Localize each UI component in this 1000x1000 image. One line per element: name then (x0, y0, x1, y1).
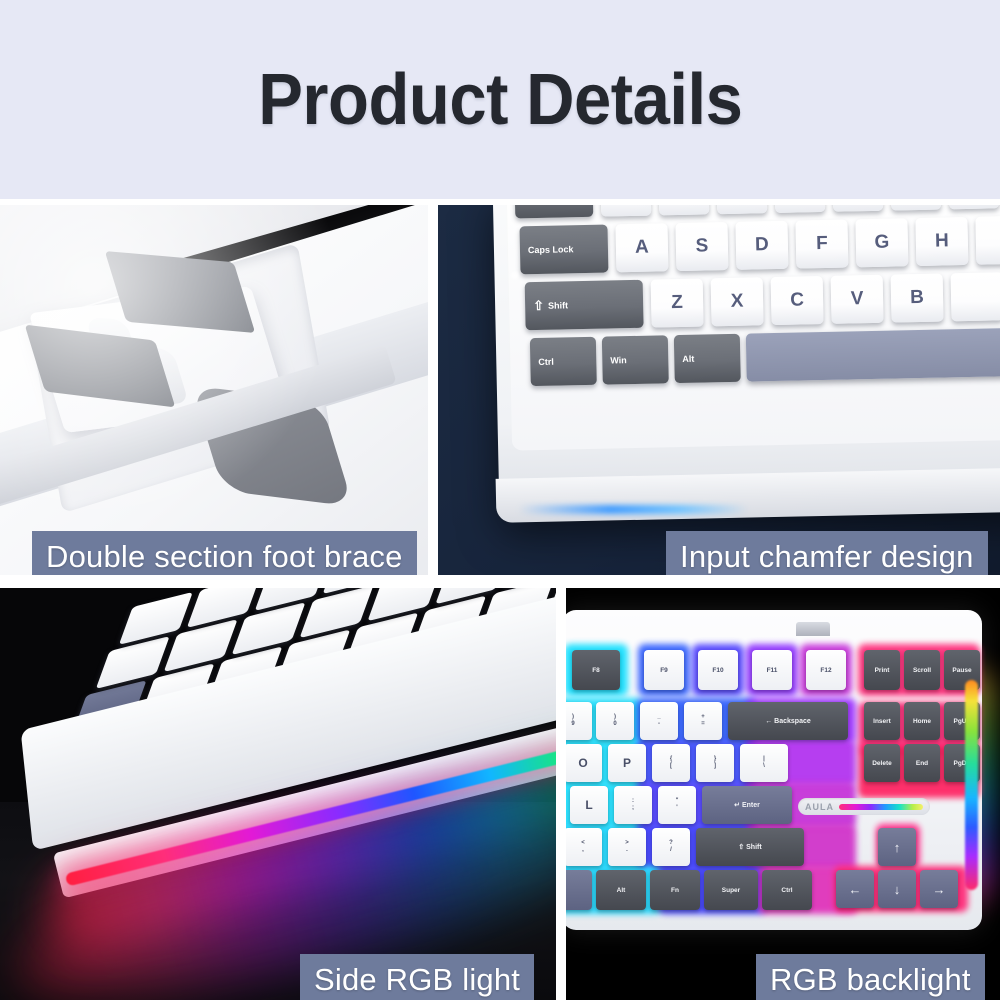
key-l: L (570, 786, 608, 824)
panel-foot-brace: Double section foot brace (0, 205, 428, 575)
rgb-keyboard-body: F8 F9 F10 F11 F12 Print Scroll Pause ) 9… (566, 610, 982, 930)
key-f10: F10 (698, 650, 738, 690)
key-fn: Fn (650, 870, 700, 910)
chamfer-specular-dot (510, 271, 519, 280)
caption-rgb-backlight: RGB backlight (756, 954, 985, 1000)
key-backspace: ← Backspace (728, 702, 848, 740)
key-tab: ⇥ (514, 205, 593, 218)
key-s: S (675, 222, 728, 271)
key-backslash-glyph: \ (763, 763, 765, 770)
key-space-right (566, 870, 592, 910)
key-super: Super (704, 870, 758, 910)
page-header: Product Details (0, 0, 1000, 199)
key-ctrl: Ctrl (530, 337, 597, 386)
key-9: ) 9 (566, 702, 592, 740)
key-comma-glyph: , (582, 847, 584, 854)
key-minus-bottom: - (658, 721, 660, 728)
chamfer-keyboard-body: ⇥ Caps Lock A S D F G H (493, 205, 1000, 515)
key-rbracket: ] (714, 763, 716, 770)
key-delete: Delete (864, 744, 900, 782)
key-f11: F11 (752, 650, 792, 690)
key-rbrace: } (714, 756, 716, 763)
key-end: End (904, 744, 940, 782)
key-print: Print (864, 650, 900, 690)
caption-input-chamfer: Input chamfer design (666, 531, 988, 575)
brand-label: AULA (805, 802, 834, 812)
key-backslash: | \ (740, 744, 788, 782)
key-period-glyph: . (626, 847, 628, 854)
key-caps-lock: Caps Lock (519, 225, 608, 275)
key-home: Home (904, 702, 940, 740)
key-insert: Insert (864, 702, 900, 740)
key-lt: < (581, 840, 585, 847)
key-ctrl-right: Ctrl (762, 870, 812, 910)
key-f9: F9 (644, 650, 684, 690)
key-v: V (831, 275, 884, 324)
key-alt: Alt (674, 334, 741, 383)
brand-rgb-bar (839, 804, 923, 810)
key-right-bracket: } ] (696, 744, 734, 782)
key-equals: + = (684, 702, 722, 740)
panel-side-rgb: Side RGB light (0, 588, 556, 1000)
foot-brace-rubber-pad-top (105, 251, 256, 333)
key-win: Win (602, 335, 669, 384)
key-0: ) 0 (596, 702, 634, 740)
key-arrow-left: ← (836, 870, 874, 908)
key-colon: : (632, 798, 634, 805)
key-minus-top: _ (657, 714, 660, 721)
key-alt-right: Alt (596, 870, 646, 910)
key-shift-right: ⇧ Shift (696, 828, 804, 866)
key-arrow-up: ↑ (878, 828, 916, 866)
key-slash-glyph: / (670, 847, 672, 854)
key-q-area (600, 205, 651, 217)
caption-side-rgb: Side RGB light (300, 954, 534, 1000)
key-d: D (735, 221, 788, 270)
key-apostrophe-glyph: ' (676, 805, 677, 812)
key-o: O (566, 744, 602, 782)
key-h: H (915, 217, 968, 266)
key-lbracket: [ (670, 763, 672, 770)
panel-rgb-backlight: F8 F9 F10 F11 F12 Print Scroll Pause ) 9… (566, 588, 1000, 1000)
key-plus-top: + (701, 714, 705, 721)
key-gt: > (625, 840, 629, 847)
key-scroll: Scroll (904, 650, 940, 690)
key-pipe: | (763, 756, 765, 763)
product-details-page: Product Details Double section foot brac… (0, 0, 1000, 1000)
key-x: X (711, 277, 764, 326)
key-f8: F8 (572, 650, 620, 690)
key-g: G (855, 218, 908, 267)
key-p: P (608, 744, 646, 782)
chamfer-blue-underglow (518, 505, 748, 514)
key-0-top: ) (614, 714, 616, 721)
key-shift-left: ⇧ Shift (525, 280, 644, 330)
key-c: C (771, 276, 824, 325)
key-quote: " (676, 798, 679, 805)
key-semicolon: : ; (614, 786, 652, 824)
key-enter: ↵ Enter (702, 786, 792, 824)
key-lbrace: { (670, 756, 672, 763)
key-y-area (890, 205, 941, 211)
key-period: > . (608, 828, 646, 866)
brand-badge: AULA (798, 798, 930, 815)
key-equals-bottom: = (701, 721, 705, 728)
rgb-keycaps: F8 F9 F10 F11 F12 Print Scroll Pause ) 9… (566, 610, 982, 930)
key-comma: < , (566, 828, 602, 866)
key-f: F (795, 219, 848, 268)
caption-foot-brace: Double section foot brace (32, 531, 417, 575)
rgb-side-light-strip (965, 680, 978, 890)
key-z: Z (651, 279, 704, 328)
chamfer-keycaps: ⇥ Caps Lock A S D F G H (493, 205, 1000, 515)
key-n (951, 272, 1000, 321)
key-j (975, 216, 1000, 265)
key-apostrophe: " ' (658, 786, 696, 824)
key-spacebar (746, 327, 1000, 382)
key-t-area (832, 205, 883, 212)
key-a: A (615, 223, 668, 272)
key-left-bracket: { [ (652, 744, 690, 782)
key-u-area (948, 205, 999, 209)
key-w-area (658, 205, 709, 215)
key-semicolon-glyph: ; (632, 805, 634, 812)
key-question: ? (669, 840, 673, 847)
key-r-area (774, 205, 825, 213)
key-e-area (716, 205, 767, 214)
key-9-bottom: 9 (571, 721, 574, 728)
key-9-top: ) (572, 714, 574, 721)
panel-input-chamfer: ⇥ Caps Lock A S D F G H (438, 205, 1000, 575)
key-f12: F12 (806, 650, 846, 690)
key-0-bottom: 0 (613, 721, 616, 728)
key-minus: _ - (640, 702, 678, 740)
page-title: Product Details (258, 59, 742, 141)
key-shift-label: Shift (548, 300, 568, 310)
key-arrow-down: ↓ (878, 870, 916, 908)
key-slash: ? / (652, 828, 690, 866)
key-arrow-right: → (920, 870, 958, 908)
key-b: B (891, 273, 944, 322)
